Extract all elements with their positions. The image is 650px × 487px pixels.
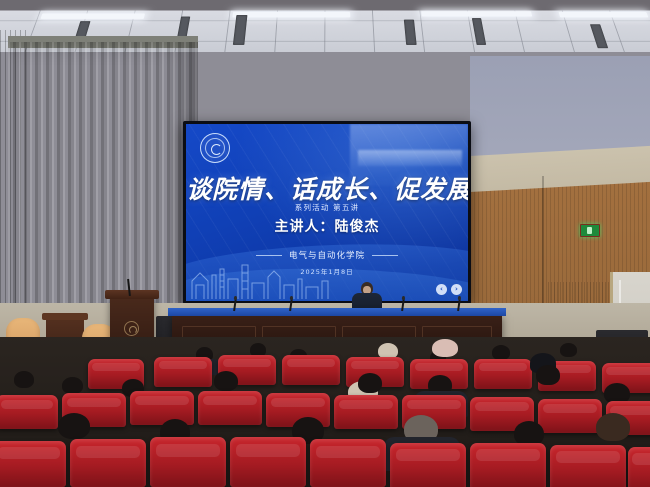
slide-organization: 电气与自动化学院 (289, 249, 365, 261)
led-screen-bezel: 谈院情、话成长、促发展 系列活动 第五讲 主讲人：陆俊杰 电气与自动化学院 20… (183, 121, 471, 304)
seat[interactable] (310, 439, 386, 487)
university-emblem-icon (200, 133, 230, 163)
audience-seating (0, 337, 650, 487)
slide-navigation: ‹ › (436, 284, 462, 295)
slide-date: 2025年1月8日 (186, 266, 468, 276)
seat[interactable] (70, 439, 146, 487)
slide-organization-row: 电气与自动化学院 (186, 249, 468, 261)
audience-member (62, 377, 83, 394)
seat[interactable] (334, 395, 398, 429)
audience-member (492, 345, 510, 360)
ceiling-light (40, 14, 145, 19)
seat[interactable] (150, 437, 226, 487)
audience-member (596, 413, 630, 441)
seat[interactable] (230, 437, 306, 487)
ceiling-light (232, 12, 350, 17)
audience-member (358, 373, 382, 393)
side-table-top (42, 313, 88, 320)
seat[interactable] (550, 445, 626, 487)
seat[interactable] (474, 359, 532, 389)
rule-right (372, 255, 398, 256)
rule-left (256, 255, 282, 256)
audience-member (560, 343, 577, 357)
audience-member (432, 339, 458, 357)
podium-top-surface (105, 290, 159, 299)
audience-member (214, 371, 238, 391)
podium-emblem-icon (124, 321, 139, 336)
seat[interactable] (198, 391, 262, 425)
city-skyline-graphic (190, 255, 330, 299)
seat[interactable] (0, 395, 58, 429)
audience-member (536, 365, 560, 385)
seat[interactable] (0, 441, 66, 487)
emergency-exit-sign-icon (580, 224, 600, 237)
led-display-screen[interactable]: 谈院情、话成长、促发展 系列活动 第五讲 主讲人：陆俊杰 电气与自动化学院 20… (186, 124, 468, 301)
seat[interactable] (390, 443, 466, 487)
seat[interactable] (538, 399, 602, 433)
next-slide-button[interactable]: › (451, 284, 462, 295)
seat[interactable] (130, 391, 194, 425)
lecture-hall-scene: 谈院情、话成长、促发展 系列活动 第五讲 主讲人：陆俊杰 电气与自动化学院 20… (0, 0, 650, 487)
seat[interactable] (282, 355, 340, 385)
ceiling-light (559, 12, 649, 17)
audience-member (58, 413, 90, 439)
head-table-top (168, 308, 506, 316)
seat[interactable] (154, 357, 212, 387)
audience-member (14, 371, 34, 388)
slide-title: 谈院情、话成长、促发展 (186, 170, 468, 206)
slide-speaker-name: 主讲人：陆俊杰 (186, 216, 468, 236)
prev-slide-button[interactable]: ‹ (436, 284, 447, 295)
seat[interactable] (628, 447, 650, 487)
ceiling-light (421, 11, 532, 16)
seat[interactable] (470, 443, 546, 487)
slide-subtitle: 系列活动 第五讲 (186, 202, 468, 213)
